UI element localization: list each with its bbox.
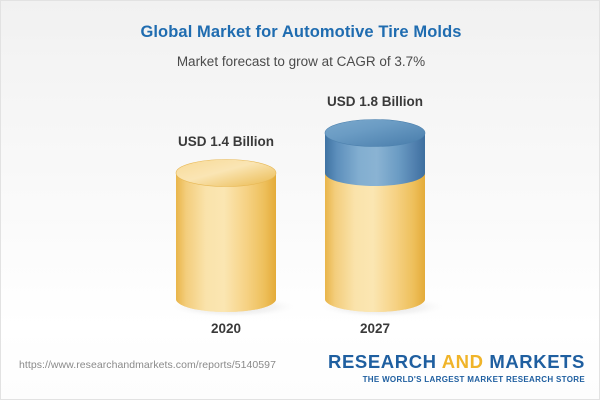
value-label-2020: USD 1.4 Billion (126, 134, 326, 149)
logo-tagline: THE WORLD'S LARGEST MARKET RESEARCH STOR… (328, 375, 585, 384)
chart-canvas: Global Market for Automotive Tire Molds … (0, 0, 600, 400)
logo-word-and-text: AND (442, 351, 484, 372)
logo-word-markets: MARKETS (489, 351, 585, 372)
report-url-link[interactable]: https://www.researchandmarkets.com/repor… (19, 359, 276, 371)
logo-wordmark: RESEARCH AND MARKETS (328, 351, 585, 373)
cylinder-bars-svg (1, 1, 600, 349)
value-label-2027: USD 1.8 Billion (275, 94, 475, 109)
bar-2020[interactable] (176, 160, 276, 313)
category-label-2027: 2027 (275, 321, 475, 336)
plot-area: USD 1.4 Billion USD 1.8 Billion 2020 202… (1, 1, 600, 349)
research-and-markets-logo[interactable]: RESEARCH AND MARKETS THE WORLD'S LARGEST… (328, 351, 585, 384)
bar-2027[interactable] (325, 120, 425, 313)
footer: https://www.researchandmarkets.com/repor… (1, 347, 600, 399)
logo-word-research: RESEARCH (328, 351, 437, 372)
